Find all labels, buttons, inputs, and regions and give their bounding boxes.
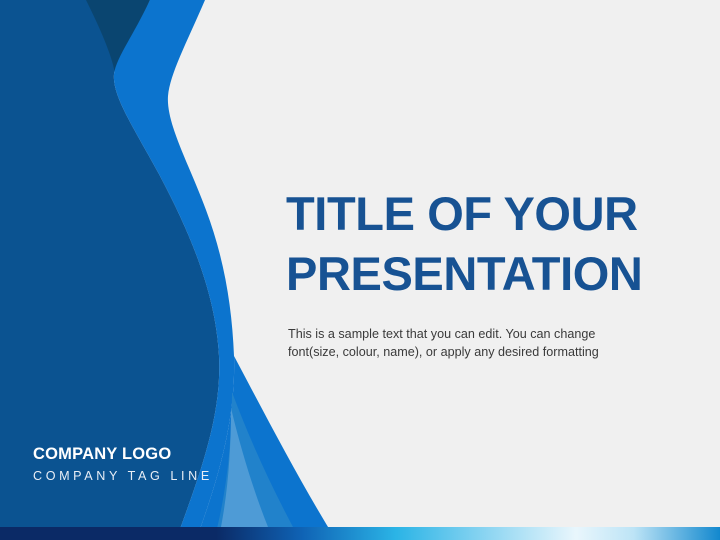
slide-content-layer: TITLE OF YOUR PRESENTATION This is a sam…: [0, 0, 720, 540]
page-title: TITLE OF YOUR PRESENTATION: [286, 184, 682, 304]
company-tagline-text: COMPANY TAG LINE: [33, 469, 293, 484]
title-block: TITLE OF YOUR PRESENTATION: [286, 184, 682, 304]
footer-block: COMPANY LOGO COMPANY TAG LINE: [33, 444, 293, 484]
subtitle-text: This is a sample text that you can edit.…: [288, 326, 634, 362]
subtitle-block: This is a sample text that you can edit.…: [288, 326, 634, 362]
presentation-slide: TITLE OF YOUR PRESENTATION This is a sam…: [0, 0, 720, 540]
company-logo-text: COMPANY LOGO: [33, 444, 293, 465]
